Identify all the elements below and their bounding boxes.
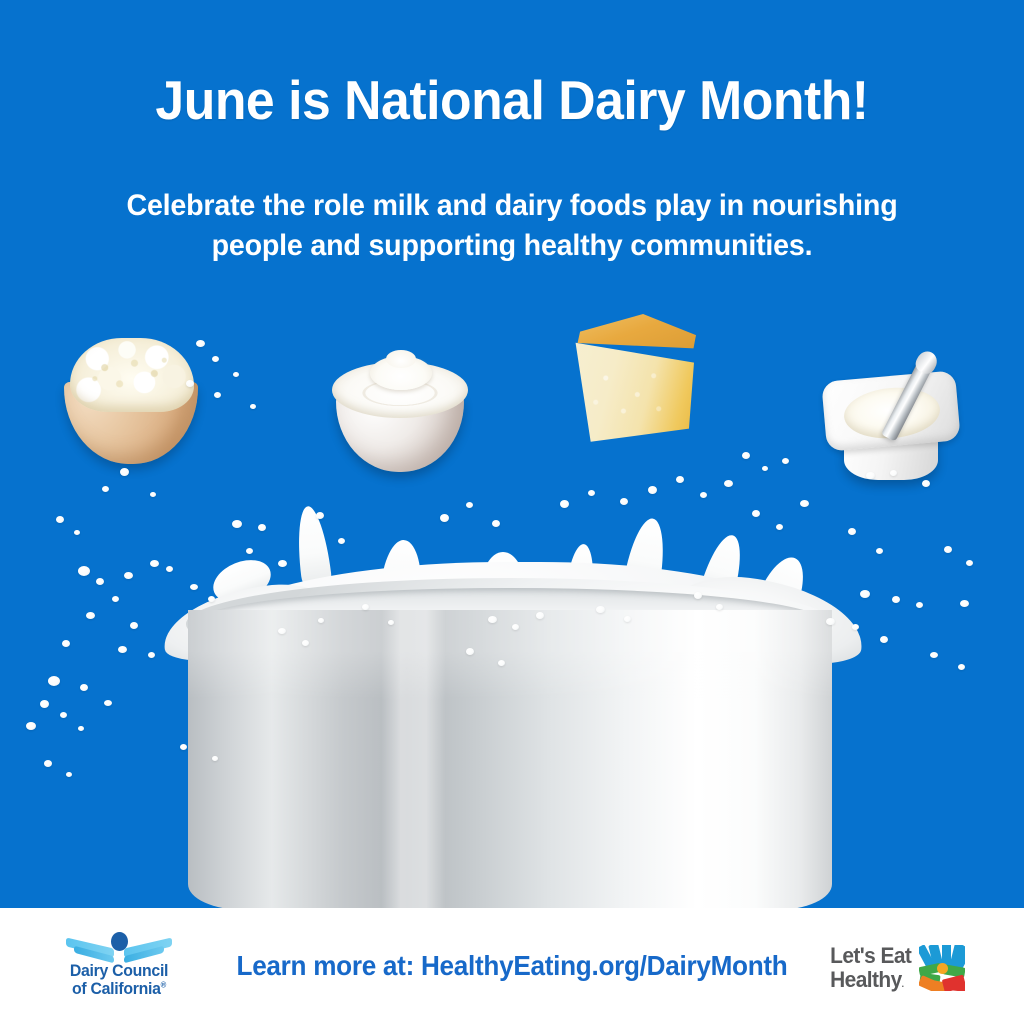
milk-droplet bbox=[944, 546, 952, 553]
milk-droplet bbox=[362, 604, 369, 610]
milk-droplet bbox=[96, 578, 104, 585]
milk-droplet bbox=[624, 616, 631, 622]
milk-droplet bbox=[118, 646, 127, 653]
milk-droplet bbox=[782, 458, 789, 464]
milk-droplet bbox=[588, 490, 595, 496]
milk-droplet bbox=[258, 524, 266, 531]
milk-droplet bbox=[762, 466, 768, 471]
milk-droplet bbox=[848, 528, 856, 535]
subtitle-line-1: Celebrate the role milk and dairy foods … bbox=[126, 189, 897, 222]
milk-droplets bbox=[0, 0, 1024, 1024]
milk-droplet bbox=[716, 604, 723, 610]
trademark-dot: . bbox=[902, 979, 904, 989]
milk-droplet bbox=[876, 548, 883, 554]
milk-droplet bbox=[724, 480, 733, 487]
milk-droplet bbox=[800, 500, 809, 507]
milk-droplet bbox=[922, 480, 930, 487]
milk-droplet bbox=[86, 612, 95, 619]
milk-droplet bbox=[40, 700, 49, 708]
milk-droplet bbox=[62, 640, 70, 647]
milk-droplet bbox=[246, 548, 253, 554]
leh-line-1: Let's Eat bbox=[830, 944, 911, 968]
milk-droplet bbox=[112, 596, 119, 602]
milk-droplet bbox=[60, 712, 67, 718]
milk-droplet bbox=[212, 756, 218, 761]
milk-droplet bbox=[78, 726, 84, 731]
milk-droplet bbox=[166, 566, 173, 572]
milk-droplet bbox=[208, 596, 215, 602]
milk-droplet bbox=[752, 510, 760, 517]
milk-droplet bbox=[498, 660, 505, 666]
milk-droplet bbox=[676, 476, 684, 483]
milk-droplet bbox=[648, 486, 657, 494]
milk-droplet bbox=[966, 560, 973, 566]
lets-eat-healthy-wordmark: Let's Eat Healthy. bbox=[830, 944, 911, 992]
milk-droplet bbox=[48, 676, 60, 686]
milk-droplet bbox=[148, 652, 155, 658]
milk-droplet bbox=[120, 468, 129, 476]
milk-droplet bbox=[232, 520, 242, 528]
milk-droplet bbox=[74, 530, 80, 535]
milk-droplet bbox=[466, 502, 473, 508]
milk-droplet bbox=[560, 500, 569, 508]
milk-droplet bbox=[278, 628, 286, 634]
milk-droplet bbox=[150, 492, 156, 497]
milk-droplet bbox=[880, 636, 888, 643]
milk-droplet bbox=[44, 760, 52, 767]
milk-droplet bbox=[440, 514, 449, 522]
milk-droplet bbox=[78, 566, 90, 576]
milk-droplet bbox=[700, 492, 707, 498]
milk-droplet bbox=[214, 392, 221, 398]
milk-droplet bbox=[958, 664, 965, 670]
lets-eat-healthy-logo[interactable]: Let's Eat Healthy. bbox=[828, 938, 988, 998]
milk-droplet bbox=[892, 596, 900, 603]
milk-droplet bbox=[180, 744, 187, 750]
milk-droplet bbox=[278, 560, 287, 567]
milk-droplet bbox=[694, 592, 702, 599]
subtitle: Celebrate the role milk and dairy foods … bbox=[15, 186, 1008, 266]
milk-droplet bbox=[102, 486, 109, 492]
subtitle-line-2: people and supporting healthy communitie… bbox=[15, 226, 1008, 266]
milk-droplet bbox=[466, 648, 474, 655]
milk-droplet bbox=[302, 640, 309, 646]
footer-bar: Dairy Council of California® Learn more … bbox=[0, 908, 1024, 1024]
milk-droplet bbox=[130, 622, 138, 629]
milk-droplet bbox=[150, 560, 159, 567]
dairy-month-poster: June is National Dairy Month! Celebrate … bbox=[0, 0, 1024, 1024]
milk-droplet bbox=[318, 618, 324, 623]
milk-droplet bbox=[620, 498, 628, 505]
milk-droplet bbox=[890, 470, 897, 476]
milk-droplet bbox=[186, 380, 194, 387]
milk-droplet bbox=[26, 722, 36, 730]
milk-droplet bbox=[536, 612, 544, 619]
milk-droplet bbox=[512, 624, 519, 630]
milk-droplet bbox=[492, 520, 500, 527]
milk-droplet bbox=[776, 524, 783, 530]
milk-droplet bbox=[66, 772, 72, 777]
milk-droplet bbox=[196, 340, 205, 347]
milk-droplet bbox=[852, 624, 859, 630]
milk-droplet bbox=[104, 700, 112, 706]
starburst-icon bbox=[919, 945, 965, 991]
milk-droplet bbox=[124, 572, 133, 579]
milk-droplet bbox=[742, 452, 750, 459]
milk-droplet bbox=[388, 620, 394, 625]
milk-droplet bbox=[56, 516, 64, 523]
milk-droplet bbox=[250, 404, 256, 409]
milk-droplet bbox=[916, 602, 923, 608]
milk-droplet bbox=[866, 472, 875, 479]
milk-droplet bbox=[233, 372, 239, 377]
milk-droplet bbox=[488, 616, 497, 623]
milk-droplet bbox=[190, 584, 198, 590]
milk-droplet bbox=[930, 652, 938, 658]
milk-droplet bbox=[596, 606, 605, 613]
milk-droplet bbox=[80, 684, 88, 691]
milk-droplet bbox=[316, 512, 324, 519]
milk-droplet bbox=[338, 538, 345, 544]
leh-line-2: Healthy. bbox=[830, 968, 911, 992]
milk-droplet bbox=[826, 618, 835, 625]
milk-droplet bbox=[212, 356, 219, 362]
milk-droplet bbox=[960, 600, 969, 607]
starburst-ray bbox=[949, 980, 965, 991]
page-title: June is National Dairy Month! bbox=[31, 72, 994, 130]
starburst-center bbox=[937, 963, 948, 974]
milk-droplet bbox=[860, 590, 870, 598]
